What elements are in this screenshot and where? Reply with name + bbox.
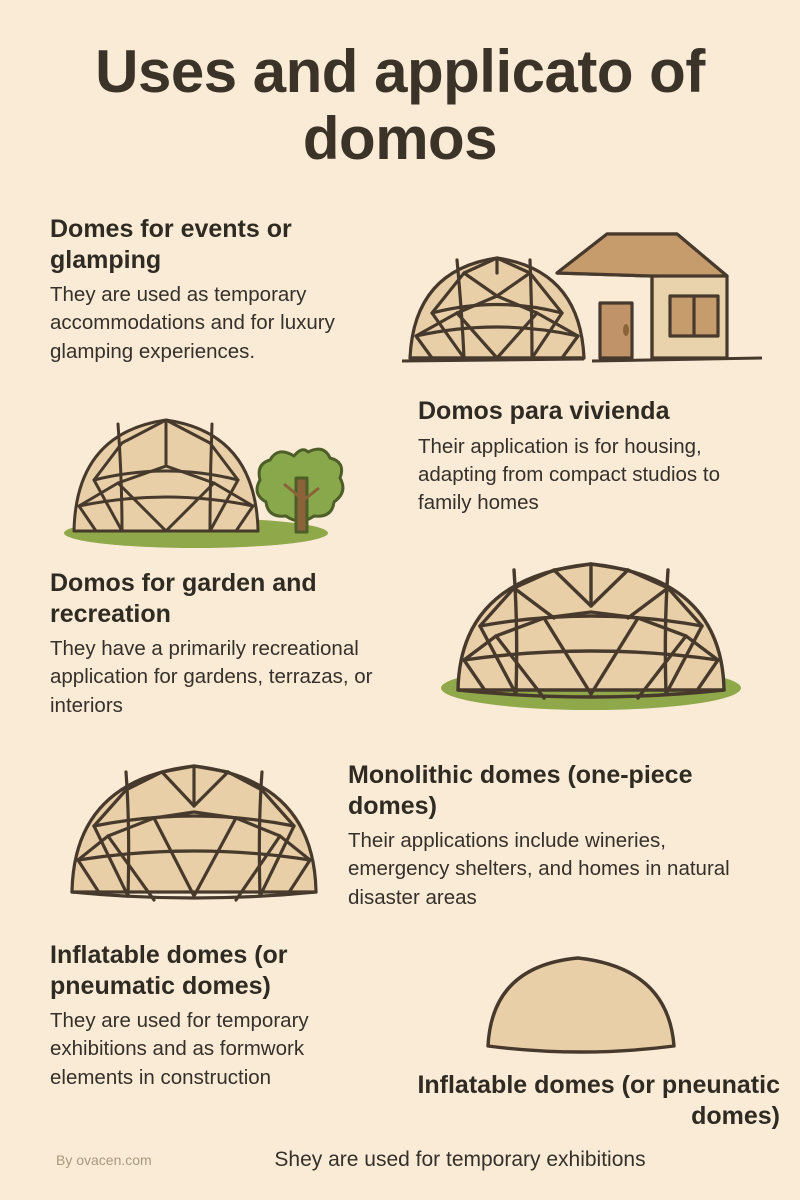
dome-with-house-icon xyxy=(402,218,772,378)
section-events-glamping: Domes for events or glamping They are us… xyxy=(50,214,390,366)
section-body: Their application is for housing, adapti… xyxy=(418,433,778,518)
infographic-poster: Uses and applicato of domos Domes for ev… xyxy=(0,0,800,1200)
dome-with-tree-icon xyxy=(56,398,356,548)
section-body: They are used as temporary accommodation… xyxy=(50,281,390,366)
section-body: They are used for temporary exhibitions … xyxy=(50,1007,380,1092)
credit-watermark: By ovacen.com xyxy=(56,1152,152,1168)
geodesic-dome-on-grass-icon xyxy=(436,548,746,713)
section-heading: Domos for garden and recreation xyxy=(50,568,430,629)
caption-inflatable-heading: Inflatable domes (or pneunatic domes) xyxy=(400,1070,780,1133)
section-housing: Domos para vivienda Their application is… xyxy=(418,396,778,517)
section-garden-recreation: Domos for garden and recreation They hav… xyxy=(50,568,430,720)
section-heading: Monolithic domes (one-piece domes) xyxy=(348,760,748,821)
section-body: Their applications include wineries, eme… xyxy=(348,827,748,912)
section-inflatable-domes: Inflatable domes (or pneumatic domes) Th… xyxy=(50,940,380,1092)
caption-inflatable-body: Shey are used for temporary exhibitions xyxy=(180,1148,740,1172)
section-monolithic-domes: Monolithic domes (one-piece domes) Their… xyxy=(348,760,748,912)
smooth-inflatable-dome-icon xyxy=(478,946,682,1058)
geodesic-dome-plain-icon xyxy=(58,752,330,907)
page-title: Uses and applicato of domos xyxy=(0,38,800,172)
section-heading: Domos para vivienda xyxy=(418,396,778,427)
section-heading: Inflatable domes (or pneumatic domes) xyxy=(50,940,380,1001)
section-heading: Domes for events or glamping xyxy=(50,214,390,275)
section-body: They have a primarily recreational appli… xyxy=(50,635,430,720)
